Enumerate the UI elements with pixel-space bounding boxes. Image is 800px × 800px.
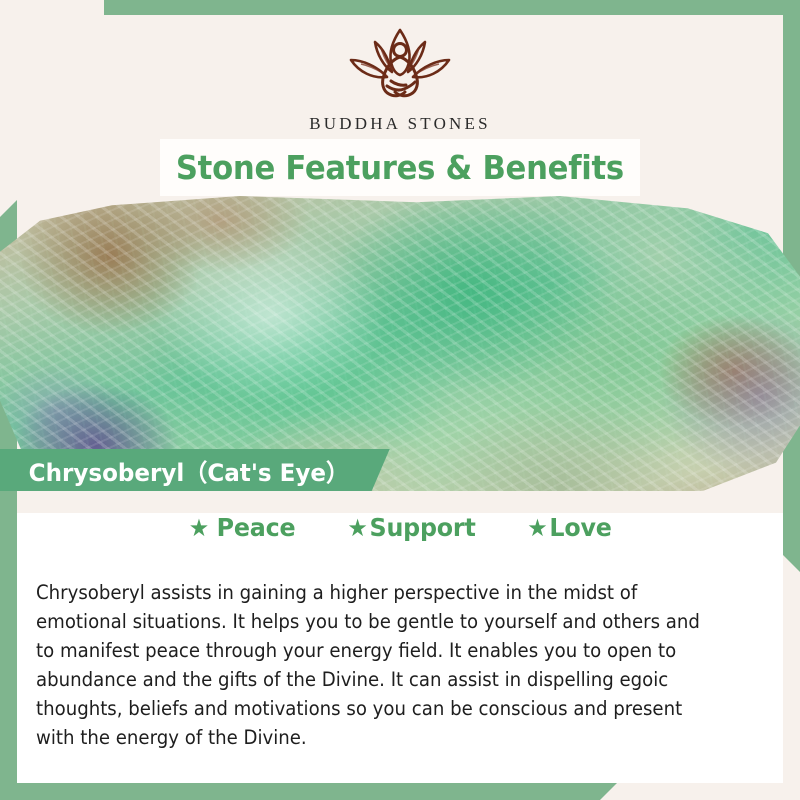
benefit-label: Support	[370, 513, 476, 542]
stone-name-banner: Chrysoberyl（Cat's Eye）	[0, 449, 390, 491]
stone-name: Chrysoberyl（Cat's Eye）	[29, 453, 349, 488]
brand-wordmark: BUDDHA STONES	[0, 114, 800, 134]
benefit-tag-peace: ★ Peace	[189, 513, 296, 542]
page-title: Stone Features & Benefits	[176, 148, 624, 187]
benefit-tag-list: ★ Peace ★ Support ★ Love	[0, 513, 800, 542]
star-icon: ★	[348, 516, 368, 540]
benefit-label: Peace	[217, 513, 296, 542]
benefit-tag-love: ★ Love	[527, 513, 611, 542]
stone-info-card: BUDDHA STONES Stone Features & Benefits …	[0, 0, 800, 800]
benefit-tag-support: ★ Support	[348, 513, 476, 542]
stone-description: Chrysoberyl assists in gaining a higher …	[36, 578, 715, 752]
title-panel: Stone Features & Benefits	[160, 139, 640, 196]
content-panel-tint	[17, 491, 783, 513]
frame-bottom-band	[0, 783, 617, 800]
frame-top-band	[104, 0, 800, 15]
star-icon: ★	[527, 516, 547, 540]
lotus-meditation-icon	[335, 22, 465, 108]
brand-logo: BUDDHA STONES	[0, 22, 800, 134]
star-icon: ★	[189, 516, 209, 540]
benefit-label: Love	[550, 513, 612, 542]
